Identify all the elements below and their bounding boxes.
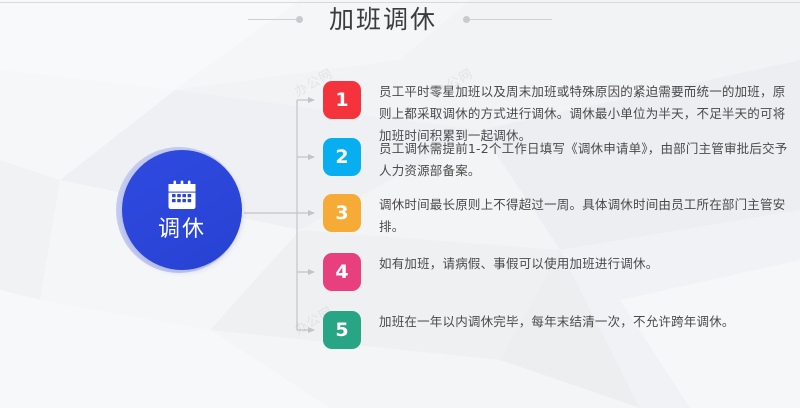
list-item[interactable]: 1 员工平时零星加班以及周末加班或特殊原因的紧迫需要而统一的加班，原则上都采取调… (323, 81, 793, 147)
item-number-badge: 2 (323, 138, 361, 176)
item-text: 如有加班，请病假、事假可以使用加班进行调休。 (379, 253, 658, 275)
item-number-badge: 5 (323, 311, 361, 349)
items-list: 1 员工平时零星加班以及周末加班或特殊原因的紧迫需要而统一的加班，原则上都采取调… (0, 0, 800, 408)
slide-root: 加班调休 (0, 0, 800, 408)
list-item[interactable]: 4 如有加班，请病假、事假可以使用加班进行调休。 (323, 253, 793, 291)
list-item[interactable]: 2 员工调休需提前1-2个工作日填写《调休申请单》，由部门主管审批后交予人力资源… (323, 138, 793, 182)
item-text: 调休时间最长原则上不得超过一周。具体调休时间由员工所在部门主管安排。 (379, 194, 793, 238)
item-number-badge: 3 (323, 194, 361, 232)
list-item[interactable]: 3 调休时间最长原则上不得超过一周。具体调休时间由员工所在部门主管安排。 (323, 194, 793, 238)
list-item[interactable]: 5 加班在一年以内调休完毕，每年末结清一次，不允许跨年调休。 (323, 311, 793, 349)
item-number-badge: 4 (323, 253, 361, 291)
item-text: 员工平时零星加班以及周末加班或特殊原因的紧迫需要而统一的加班，原则上都采取调休的… (379, 81, 793, 147)
item-number-badge: 1 (323, 81, 361, 119)
item-text: 员工调休需提前1-2个工作日填写《调休申请单》，由部门主管审批后交予人力资源部备… (379, 138, 793, 182)
item-text: 加班在一年以内调休完毕，每年末结清一次，不允许跨年调休。 (379, 311, 735, 333)
